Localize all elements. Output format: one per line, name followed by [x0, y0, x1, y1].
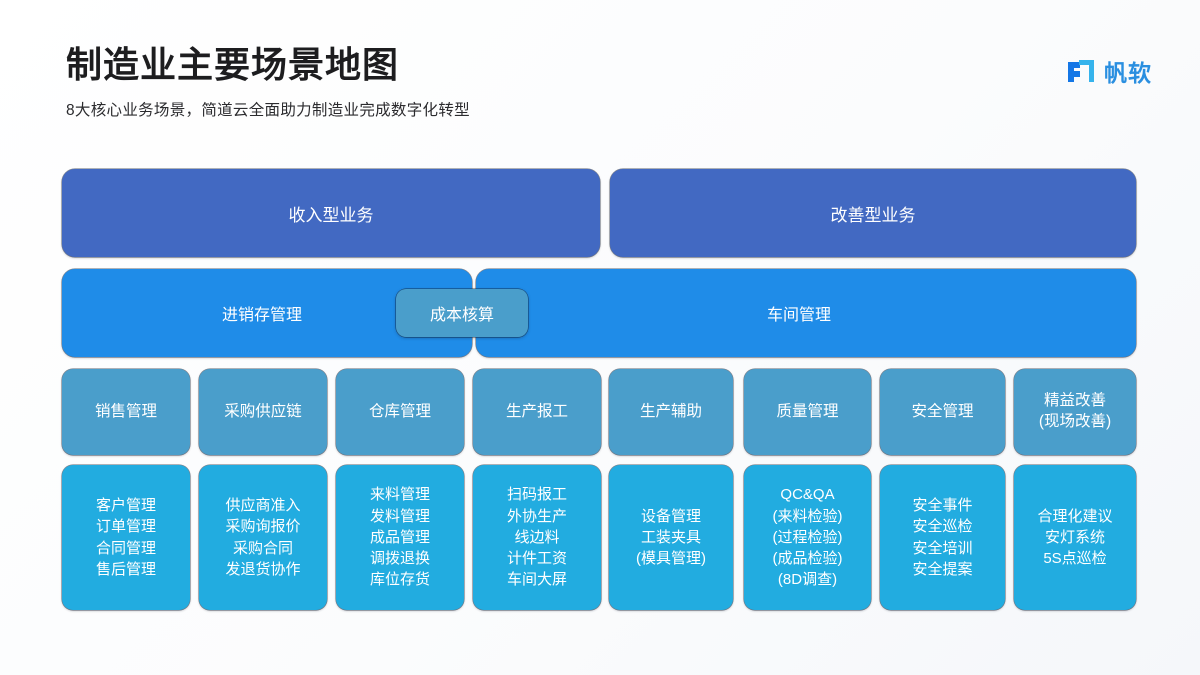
domain-label: 车间管理: [767, 301, 831, 325]
domain-label: 进销存管理: [222, 301, 302, 325]
scenario-feature-card[interactable]: 设备管理工装夹具(模具管理): [609, 465, 733, 610]
scenario-category-label: 质量管理: [776, 402, 838, 423]
scenario-category-label: 安全管理: [911, 402, 973, 423]
scenario-feature-list: 安全事件安全巡检安全培训安全提案: [912, 495, 972, 580]
fanruan-logo-icon: [1066, 56, 1096, 86]
scenario-feature-list: 客户管理订单管理合同管理售后管理: [96, 495, 156, 580]
cost-accounting-chip[interactable]: 成本核算: [396, 289, 528, 337]
scenario-feature-card[interactable]: 来料管理发料管理成品管理调拨退换库位存货: [336, 465, 464, 610]
scene-map-poster: 制造业主要场景地图 8大核心业务场景，简道云全面助力制造业完成数字化转型 帆软 …: [0, 0, 1200, 675]
brand-logo: 帆软: [1066, 54, 1152, 88]
scenario-category-label: 采购供应链: [224, 402, 302, 423]
scenario-feature-list: 扫码报工外协生产线边料计件工资车间大屏: [507, 484, 567, 590]
cost-accounting-label: 成本核算: [430, 301, 494, 325]
scenario-feature-card[interactable]: 客户管理订单管理合同管理售后管理: [62, 465, 190, 610]
page-title: 制造业主要场景地图: [66, 44, 1136, 85]
domain-card-workshop[interactable]: 车间管理: [476, 269, 1136, 357]
scenario-category-label: 仓库管理: [369, 402, 431, 423]
scenario-category-label: 销售管理: [95, 402, 157, 423]
scenario-feature-card[interactable]: 安全事件安全巡检安全培训安全提案: [880, 465, 1005, 610]
scenario-category-card[interactable]: 安全管理: [880, 369, 1005, 455]
scenario-category-label: 精益改善(现场改善): [1039, 391, 1111, 433]
scenario-feature-list: 设备管理工装夹具(模具管理): [636, 506, 706, 570]
scenario-category-card[interactable]: 采购供应链: [199, 369, 327, 455]
page-subtitle: 8大核心业务场景，简道云全面助力制造业完成数字化转型: [66, 98, 1136, 120]
header: 制造业主要场景地图 8大核心业务场景，简道云全面助力制造业完成数字化转型: [66, 44, 1136, 120]
business-type-card-improvement[interactable]: 改善型业务: [610, 169, 1136, 257]
scenario-feature-card[interactable]: QC&QA(来料检验)(过程检验)(成品检验)(8D调查): [744, 465, 871, 610]
scenario-category-label: 生产报工: [506, 402, 568, 423]
scenario-category-card[interactable]: 精益改善(现场改善): [1014, 369, 1136, 455]
scenario-feature-list: 来料管理发料管理成品管理调拨退换库位存货: [370, 484, 430, 590]
scenario-feature-list: 合理化建议安灯系统5S点巡检: [1037, 506, 1112, 570]
scenario-feature-card[interactable]: 供应商准入采购询报价采购合同发退货协作: [199, 465, 327, 610]
scenario-feature-card[interactable]: 扫码报工外协生产线边料计件工资车间大屏: [473, 465, 601, 610]
business-type-label: 收入型业务: [289, 201, 374, 226]
scenario-category-card[interactable]: 质量管理: [744, 369, 871, 455]
scenario-feature-list: QC&QA(来料检验)(过程检验)(成品检验)(8D调查): [773, 484, 843, 590]
scenario-feature-card[interactable]: 合理化建议安灯系统5S点巡检: [1014, 465, 1136, 610]
business-type-card-revenue[interactable]: 收入型业务: [62, 169, 600, 257]
scenario-category-card[interactable]: 生产辅助: [609, 369, 733, 455]
scenario-feature-list: 供应商准入采购询报价采购合同发退货协作: [225, 495, 300, 580]
scenario-category-card[interactable]: 生产报工: [473, 369, 601, 455]
brand-name: 帆软: [1104, 54, 1152, 88]
business-type-label: 改善型业务: [831, 201, 916, 226]
scenario-category-card[interactable]: 仓库管理: [336, 369, 464, 455]
scenario-category-label: 生产辅助: [640, 402, 702, 423]
scenario-category-card[interactable]: 销售管理: [62, 369, 190, 455]
